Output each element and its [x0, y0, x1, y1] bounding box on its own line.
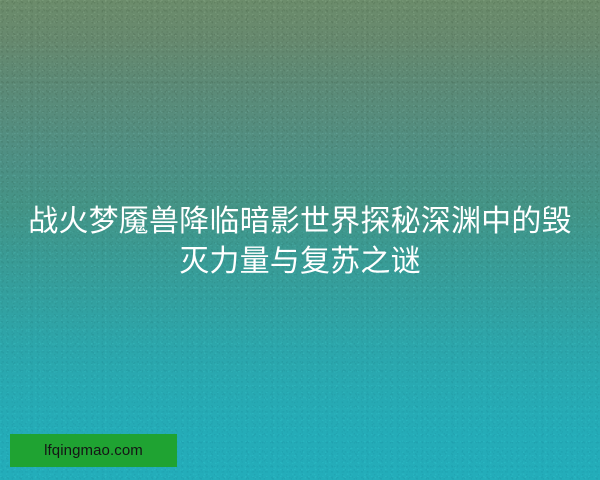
banner-title: 战火梦魇兽降临暗影世界探秘深渊中的毁灭力量与复苏之谜 [26, 202, 574, 282]
promo-banner: 战火梦魇兽降临暗影世界探秘深渊中的毁灭力量与复苏之谜 lfqingmao.com [0, 0, 600, 480]
watermark-badge: lfqingmao.com [10, 434, 177, 467]
watermark-label: lfqingmao.com [44, 443, 143, 458]
